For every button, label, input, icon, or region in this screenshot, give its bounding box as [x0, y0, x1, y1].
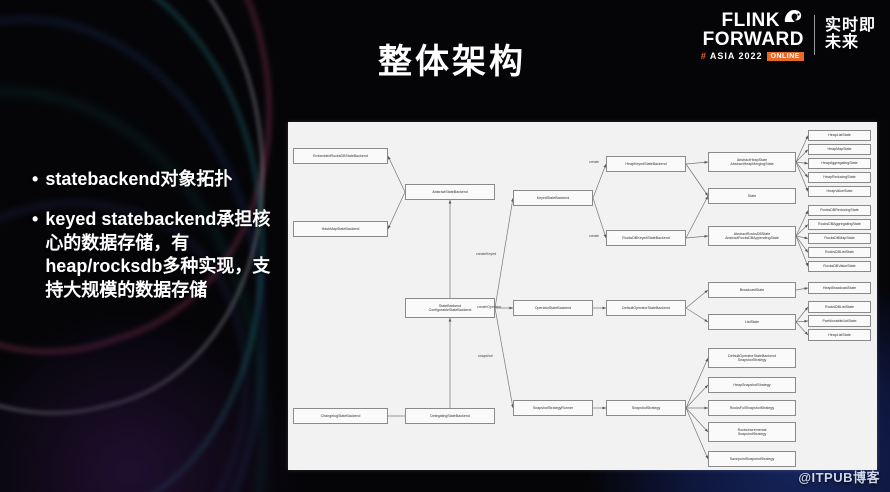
- diagram-node: HeapReducingState: [808, 172, 871, 183]
- page-title: 整体架构: [378, 34, 526, 83]
- logo-subline: # ASIA 2022 ONLINE: [701, 52, 804, 61]
- diagram-edge: [686, 290, 708, 308]
- diagram-canvas: EmbeddedRocksDBStateBackendHashMapStateB…: [288, 122, 877, 470]
- diagram-edge-label: create: [589, 160, 599, 164]
- diagram-node: RocksDBListState: [808, 301, 871, 313]
- diagram-node-label: RocksDBMapState: [824, 236, 854, 240]
- diagram-edge: [796, 288, 808, 290]
- logo-tagline: 实时即 未来: [825, 18, 876, 52]
- diagram-edge: [796, 307, 808, 322]
- diagram-node-label: ChangelogStateBackend: [321, 414, 361, 418]
- diagram-node: RocksDBKeyedStateBackend: [606, 230, 686, 246]
- diagram-node-label: SnapshotStrategyRunner: [533, 406, 573, 410]
- diagram-node-label: State: [748, 194, 756, 198]
- logo-online-badge: ONLINE: [767, 52, 804, 61]
- diagram-edge: [495, 198, 513, 308]
- logo-divider: [814, 15, 815, 55]
- diagram-node-label: HeapValueState: [827, 189, 853, 193]
- diagram-node: EmbeddedRocksDBStateBackend: [293, 148, 388, 164]
- diagram-node: RocksDBValueState: [808, 261, 871, 272]
- bullet-dot-icon: •: [32, 208, 38, 303]
- list-item: • keyed statebackend承担核心的数据存储，有heap/rock…: [32, 208, 282, 303]
- diagram-node-label: DefaultOperatorStateBackend: [622, 306, 670, 310]
- bullet-text: keyed statebackend承担核心的数据存储，有heap/rocksd…: [45, 208, 282, 303]
- diagram-node: OperatorStateBackend: [513, 300, 593, 316]
- logo-asia-year: ASIA 2022: [710, 52, 763, 61]
- logo-line-forward: FORWARD: [703, 30, 804, 49]
- bullet-text: statebackend对象拓扑: [45, 168, 232, 192]
- diagram-node: RocksDBReducingState: [808, 205, 871, 216]
- diagram-edge: [593, 164, 606, 198]
- logo-wordmark: FLINK FORWARD # ASIA 2022 ONLINE: [701, 8, 804, 61]
- diagram-node-label: RocksDBKeyedStateBackend: [622, 236, 670, 240]
- diagram-node-label: PartitionableListState: [823, 319, 857, 323]
- logo-tagline-line2: 未来: [825, 35, 876, 52]
- diagram-edge: [796, 136, 808, 163]
- diagram-node-label: HashMapStateBackend: [322, 227, 360, 231]
- watermark: @ITPUB博客: [798, 467, 880, 486]
- diagram-edge: [686, 408, 708, 432]
- diagram-node: HeapValueState: [808, 186, 871, 197]
- diagram-node-label: RocksDBListState: [825, 250, 854, 254]
- bullet-dot-icon: •: [32, 168, 38, 192]
- diagram-node: HeapKeyedStateBackend: [606, 156, 686, 172]
- diagram-node: HeapAggregatingState: [808, 158, 871, 169]
- diagram-node: HeapSnapshotStrategy: [708, 377, 796, 393]
- bullet-list: • statebackend对象拓扑 • keyed statebackend承…: [32, 168, 282, 319]
- diagram-edge: [796, 162, 808, 178]
- diagram-edge: [686, 162, 708, 164]
- diagram-node-label: KeyedStateBackend: [537, 196, 570, 200]
- diagram-node: HeapListState: [808, 130, 871, 141]
- diagram-edge: [796, 321, 808, 322]
- diagram-node-label: RocksDBAggregatingState: [818, 222, 861, 226]
- diagram-node: DelegatingStateBackend: [405, 408, 495, 424]
- diagram-node-label: HeapBroadcastState: [823, 286, 856, 290]
- diagram-node-label: HeapListState: [828, 133, 851, 137]
- diagram-node: HeapBroadcastState: [808, 282, 871, 294]
- diagram-edge: [495, 308, 513, 408]
- diagram-node: KeyedStateBackend: [513, 190, 593, 206]
- diagram-node: HeapMapState: [808, 144, 871, 155]
- diagram-edge: [796, 162, 808, 164]
- diagram-node: ChangelogStateBackend: [293, 408, 388, 424]
- diagram-edge: [796, 150, 808, 163]
- diagram-node-label: BroadcastState: [740, 288, 765, 292]
- diagram-node-label: SnapshotStrategy: [632, 406, 661, 410]
- diagram-node: RocksFullSnapshotStrategy: [708, 400, 796, 416]
- diagram-node: AbstractHeapStateAbstractHeapMergingStat…: [708, 152, 796, 172]
- diagram-node-label: RocksFullSnapshotStrategy: [730, 406, 774, 410]
- diagram-edge: [686, 385, 708, 408]
- diagram-node: HashMapStateBackend: [293, 221, 388, 237]
- diagram-edge-label: create: [589, 234, 599, 238]
- architecture-diagram-panel: EmbeddedRocksDBStateBackendHashMapStateB…: [288, 122, 877, 470]
- flink-forward-logo: FLINK FORWARD # ASIA 2022 ONLINE 实时即 未来: [701, 8, 876, 61]
- logo-hash-mark: #: [701, 52, 706, 61]
- diagram-edge: [388, 192, 405, 229]
- diagram-node-label: RocksDBValueState: [823, 264, 855, 268]
- diagram-node-label: HeapReducingState: [823, 175, 855, 179]
- diagram-node-label: StateBackendConfigurableStateBackend: [429, 304, 472, 313]
- logo-tagline-line1: 实时即: [825, 18, 876, 35]
- diagram-edge: [796, 236, 808, 267]
- diagram-node-label: AbstractRocksDBStateAbstractRocksDBAppen…: [725, 232, 779, 241]
- diagram-edge: [388, 156, 405, 192]
- diagram-node: DefaultOperatorStateBackend: [606, 300, 686, 316]
- diagram-node-label: DelegatingStateBackend: [430, 414, 470, 418]
- diagram-node-label: OperatorStateBackend: [535, 306, 572, 310]
- diagram-node-label: AbstractStateBackend: [432, 190, 468, 194]
- bottom-left-glow: [0, 312, 300, 492]
- diagram-edge: [796, 211, 808, 237]
- diagram-edge: [686, 408, 708, 459]
- diagram-node: ListState: [708, 314, 796, 330]
- diagram-node: RocksIncrementalSnapshotStrategy: [708, 422, 796, 442]
- diagram-node: RocksDBListState: [808, 247, 871, 258]
- diagram-node-label: RocksIncrementalSnapshotStrategy: [738, 428, 767, 437]
- diagram-node-label: HeapMapState: [828, 147, 852, 151]
- diagram-node-label: ListState: [745, 320, 759, 324]
- diagram-node-label: HeapAggregatingState: [821, 161, 857, 165]
- diagram-edge: [686, 196, 708, 238]
- diagram-node: AbstractRocksDBStateAbstractRocksDBAppen…: [708, 226, 796, 246]
- diagram-edge: [686, 164, 708, 196]
- squirrel-icon: [782, 8, 804, 28]
- logo-forward-text: FORWARD: [703, 30, 804, 49]
- diagram-node-label: SavepointSnapshotStrategy: [730, 457, 775, 461]
- diagram-edge-label: snapshot: [478, 354, 493, 358]
- diagram-edge-label: createOperator: [477, 305, 501, 309]
- diagram-edge: [593, 198, 606, 238]
- diagram-node: SavepointSnapshotStrategy: [708, 451, 796, 467]
- diagram-edge: [796, 225, 808, 237]
- diagram-node: HeapListState: [808, 329, 871, 341]
- diagram-node: DefaultOperatorStateBackendSnapshotStrat…: [708, 348, 796, 368]
- logo-line-flink: FLINK: [722, 8, 804, 30]
- list-item: • statebackend对象拓扑: [32, 168, 282, 192]
- diagram-node: SnapshotStrategyRunner: [513, 400, 593, 416]
- diagram-node-label: RocksDBListState: [825, 305, 854, 309]
- diagram-node-label: HeapSnapshotStrategy: [733, 383, 770, 387]
- diagram-node-label: AbstractHeapStateAbstractHeapMergingStat…: [730, 158, 773, 167]
- diagram-node: RocksDBMapState: [808, 233, 871, 244]
- diagram-edge: [796, 162, 808, 192]
- diagram-node-label: RocksDBReducingState: [820, 208, 859, 212]
- diagram-node: AbstractStateBackend: [405, 184, 495, 200]
- diagram-edge-label: createKeyed: [476, 252, 496, 256]
- diagram-node-label: HeapKeyedStateBackend: [625, 162, 666, 166]
- diagram-edge: [686, 308, 708, 322]
- diagram-edge: [796, 322, 808, 335]
- diagram-node-label: EmbeddedRocksDBStateBackend: [313, 154, 368, 158]
- diagram-node-label: DefaultOperatorStateBackendSnapshotStrat…: [728, 354, 776, 363]
- diagram-edge: [686, 236, 708, 238]
- logo-flink-text: FLINK: [722, 11, 780, 30]
- diagram-node: SnapshotStrategy: [606, 400, 686, 416]
- diagram-edge: [686, 358, 708, 408]
- diagram-node: RocksDBAggregatingState: [808, 219, 871, 230]
- diagram-node: PartitionableListState: [808, 315, 871, 327]
- diagram-node: BroadcastState: [708, 282, 796, 298]
- diagram-node: State: [708, 188, 796, 204]
- diagram-node-label: HeapListState: [828, 333, 851, 337]
